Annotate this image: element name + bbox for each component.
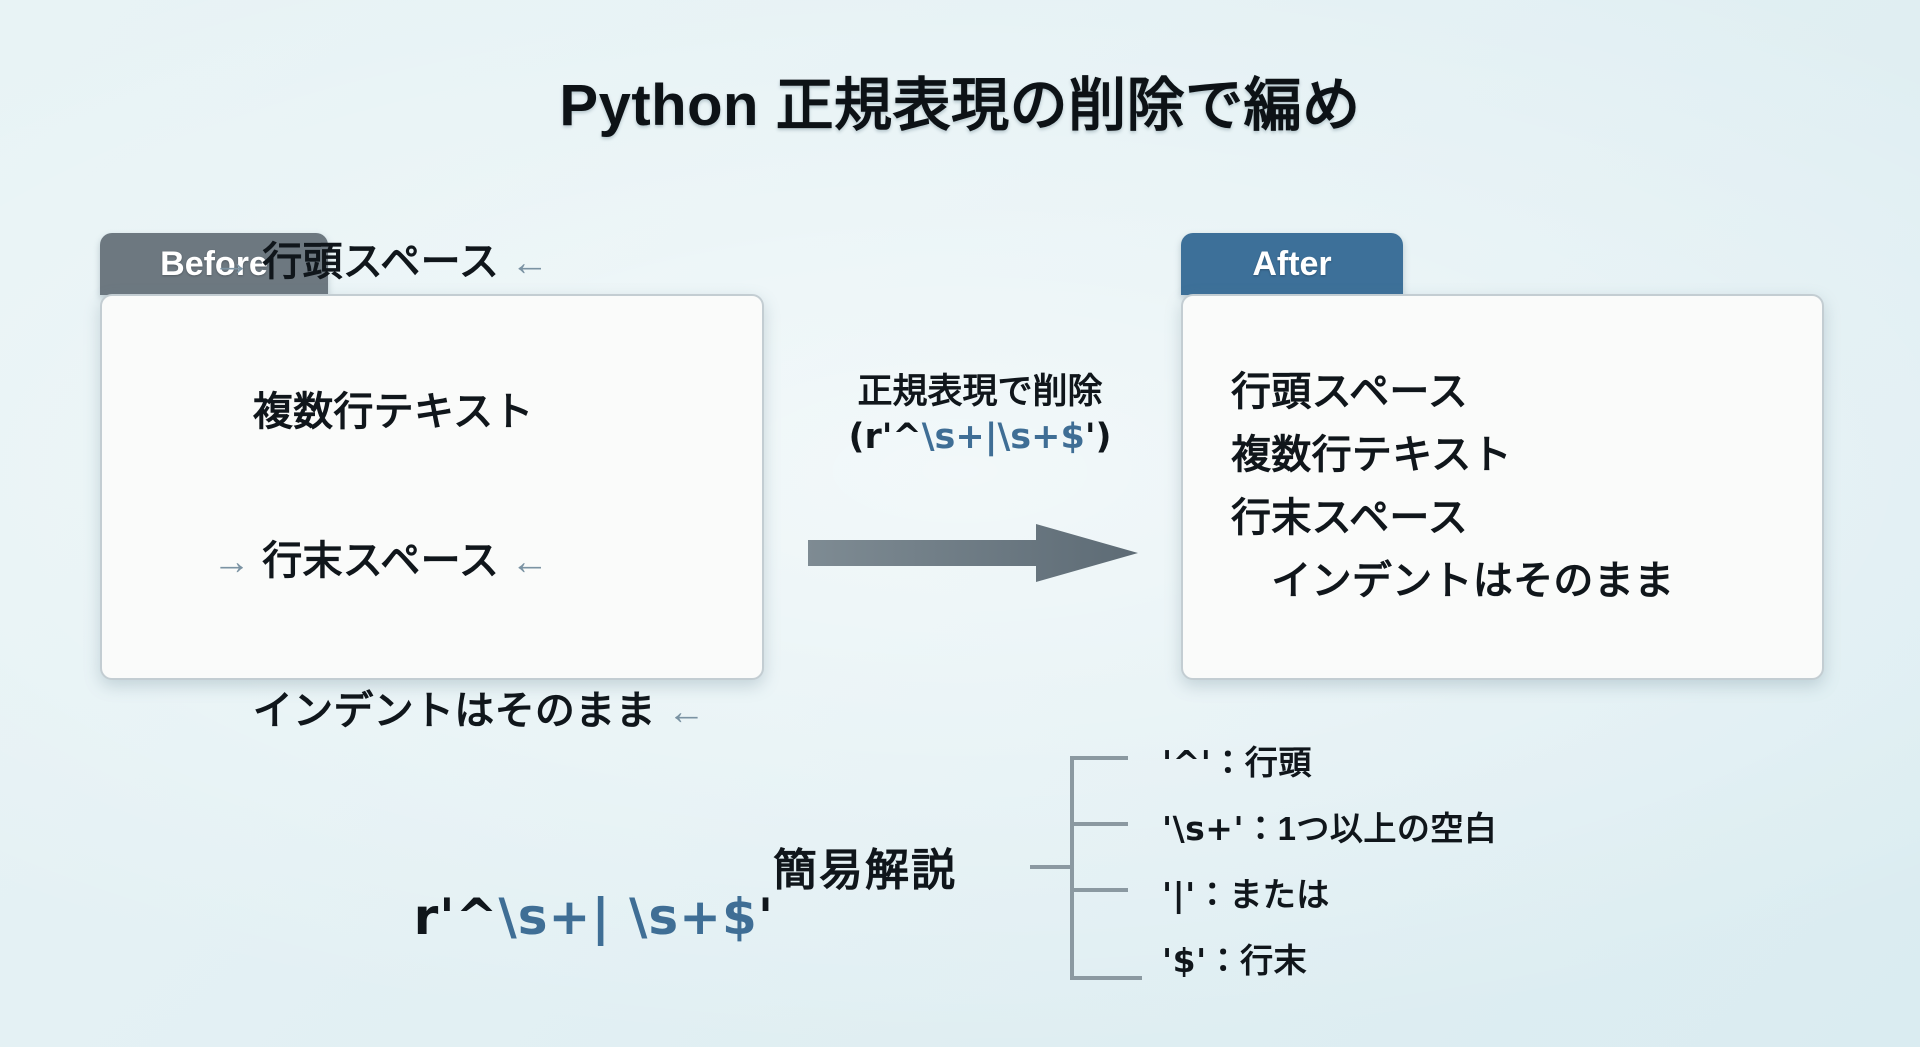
bottom-regex-whitespace-2: \s+$ — [611, 888, 758, 946]
after-card: 行頭スペース 複数行テキスト 行末スペース インデントはそのまま — [1181, 294, 1824, 680]
legend-token-whitespace: '\s+' — [1162, 809, 1244, 848]
right-arrow-icon — [808, 522, 1138, 584]
regex-whitespace-1: \s+ — [922, 417, 985, 457]
legend-meaning-dollar: 行末 — [1240, 942, 1307, 979]
before-line-4-text: インデントはそのまま — [212, 689, 667, 733]
trail-arrow-icon-3: ← — [511, 541, 549, 583]
regex-open: (r'^ — [848, 417, 921, 457]
page-title: Python 正規表現の削除で編め — [0, 58, 1920, 142]
legend-sep-dollar: ： — [1207, 942, 1241, 979]
transform-label: 正規表現で削除 — [790, 370, 1170, 415]
after-card-lines: 行頭スペース 複数行テキスト 行末スペース インデントはそのまま — [1183, 296, 1822, 678]
regex-legend: '^'：行頭 '\s+'：1つ以上の空白 '|'：または '$'：行末 — [1162, 730, 1632, 1005]
legend-meaning-whitespace: 1つ以上の空白 — [1278, 810, 1498, 847]
regex-alternation: | — [985, 417, 998, 457]
tab-after-label: After — [1252, 245, 1331, 284]
legend-item-pipe: '|'：または — [1162, 868, 1330, 916]
legend-sep-pipe: ： — [1196, 876, 1230, 913]
bottom-regex-prefix: r'^ — [414, 888, 499, 946]
before-line-3: → 行末スペース ← — [128, 497, 736, 627]
before-line-1: → 行頭スペース ← — [128, 198, 736, 328]
after-line-1: 行頭スペース — [1209, 371, 1796, 414]
transform-label-group: 正規表現で削除 (r'^\s+|\s+$') — [790, 370, 1170, 460]
legend-meaning-caret: 行頭 — [1245, 744, 1312, 781]
bottom-regex-suffix: ' — [758, 888, 774, 946]
legend-meaning-pipe: または — [1229, 876, 1330, 913]
bottom-regex-alternation: | — [591, 888, 610, 946]
trail-arrow-icon-4: ← — [667, 691, 705, 733]
transform-regex: (r'^\s+|\s+$') — [790, 415, 1170, 460]
legend-token-dollar: '$' — [1162, 941, 1207, 980]
regex-whitespace-2: \s+$ — [998, 417, 1085, 457]
legend-item-caret: '^'：行頭 — [1162, 736, 1312, 784]
lead-arrow-icon-1: → — [212, 242, 250, 284]
bottom-regex-whitespace-1: \s+ — [499, 888, 592, 946]
after-line-4: インデントはそのまま — [1209, 560, 1796, 603]
before-card: → 行頭スペース ← 複数行テキスト → 行末スペース ← インデントはそのまま… — [100, 294, 764, 680]
before-line-2-text: 複数行テキスト — [212, 390, 533, 434]
bottom-regex: r'^\s+| \s+$' — [340, 830, 774, 1004]
after-line-3: 行末スペース — [1209, 497, 1796, 540]
legend-sep-caret: ： — [1211, 744, 1245, 781]
before-line-1-text: 行頭スペース — [251, 240, 511, 284]
legend-item-whitespace: '\s+'：1つ以上の空白 — [1162, 802, 1497, 850]
explanation-caption: 簡易解説 — [773, 834, 957, 898]
regex-close: ') — [1085, 417, 1112, 457]
regex-explanation-group: r'^\s+| \s+$' 簡易解説 '^'：行頭 '\s+'：1つ以上の空白 … — [330, 730, 1620, 1005]
legend-token-pipe: '|' — [1162, 875, 1196, 914]
lead-arrow-icon-3: → — [212, 541, 250, 583]
legend-token-caret: '^' — [1162, 743, 1211, 782]
after-line-2: 複数行テキスト — [1209, 434, 1796, 477]
before-card-lines: → 行頭スペース ← 複数行テキスト → 行末スペース ← インデントはそのまま… — [102, 296, 762, 678]
before-line-2: 複数行テキスト — [128, 347, 736, 477]
legend-item-dollar: '$'：行末 — [1162, 934, 1307, 982]
before-line-3-text: 行末スペース — [251, 539, 511, 583]
legend-sep-whitespace: ： — [1244, 810, 1278, 847]
tab-after[interactable]: After — [1181, 233, 1403, 295]
trail-arrow-icon-1: ← — [511, 242, 549, 284]
